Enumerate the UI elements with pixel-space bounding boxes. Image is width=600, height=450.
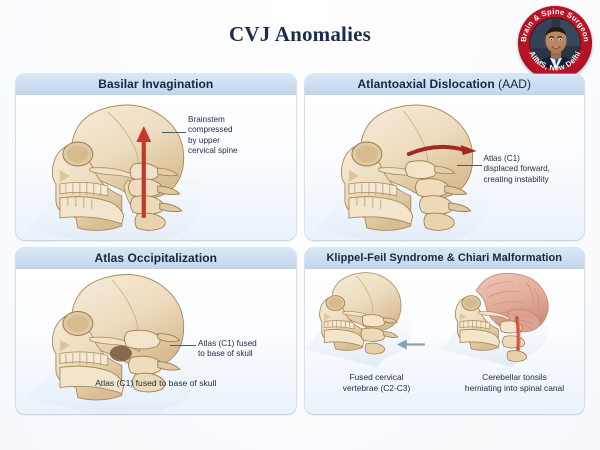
panel-basilar-invagination[interactable]: Basilar Invagination bbox=[16, 74, 296, 240]
panel-body: Fused cervical vertebrae (C2-C3) Cerebel… bbox=[305, 269, 585, 414]
panel-header: Atlantoaxial Dislocation (AAD) bbox=[305, 74, 585, 95]
tonsil-herniation bbox=[516, 318, 519, 349]
panel-title: Atlantoaxial Dislocation (AAD) bbox=[357, 77, 531, 91]
sub-caption-klippel-feil: Fused cervical vertebrae (C2-C3) bbox=[311, 372, 443, 394]
surgeon-badge: Brain & Spine Surgeon AIIMS, New Delhi bbox=[518, 6, 592, 80]
panel-header: Basilar Invagination bbox=[16, 74, 296, 95]
page-title: CVJ Anomalies bbox=[0, 22, 600, 47]
callout-atlas-displaced: Atlas (C1) displaced forward, creating i… bbox=[484, 154, 550, 185]
callout-leader-line bbox=[162, 132, 186, 133]
skull-illustration-basilar bbox=[16, 95, 296, 240]
panel-title-main: Atlantoaxial Dislocation bbox=[357, 77, 494, 91]
panel-title-abbrev: (AAD) bbox=[498, 77, 531, 91]
callout-brainstem: Brainstem compressed by upper cervical s… bbox=[188, 115, 238, 157]
panel-title: Klippel-Feil Syndrome & Chiari Malformat… bbox=[326, 252, 562, 264]
panel-title: Atlas Occipitalization bbox=[95, 251, 217, 265]
panel-atlas-occipitalization[interactable]: Atlas Occipitalization bbox=[16, 248, 296, 414]
panel-body: Atlas (C1) displaced forward, creating i… bbox=[305, 95, 585, 240]
panel-header: Atlas Occipitalization bbox=[16, 248, 296, 269]
panel-atlantoaxial-dislocation[interactable]: Atlantoaxial Dislocation (AAD) bbox=[305, 74, 585, 240]
panel-klippel-feil-chiari[interactable]: Klippel-Feil Syndrome & Chiari Malformat… bbox=[305, 248, 585, 414]
callout-leader-line bbox=[457, 165, 482, 166]
callout-leader-line bbox=[170, 345, 196, 346]
panel-body: Brainstem compressed by upper cervical s… bbox=[16, 95, 296, 240]
poster-title-bar: CVJ Anomalies bbox=[0, 22, 600, 47]
sub-caption-chiari: Cerebellar tonsils herniating into spina… bbox=[445, 372, 585, 394]
poster-canvas: CVJ Anomalies bbox=[0, 0, 600, 450]
panel-title: Basilar Invagination bbox=[98, 77, 213, 91]
panel-body: Atlas (C1) fused to base of skull Atlas … bbox=[16, 269, 296, 414]
panel-header: Klippel-Feil Syndrome & Chiari Malformat… bbox=[305, 248, 585, 269]
avatar bbox=[529, 17, 581, 69]
callout-atlas-fused: Atlas (C1) fused to base of skull bbox=[198, 339, 257, 360]
panel-grid: Basilar Invagination bbox=[16, 74, 584, 414]
panel-bottom-caption: Atlas (C1) fused to base of skull bbox=[16, 378, 296, 389]
